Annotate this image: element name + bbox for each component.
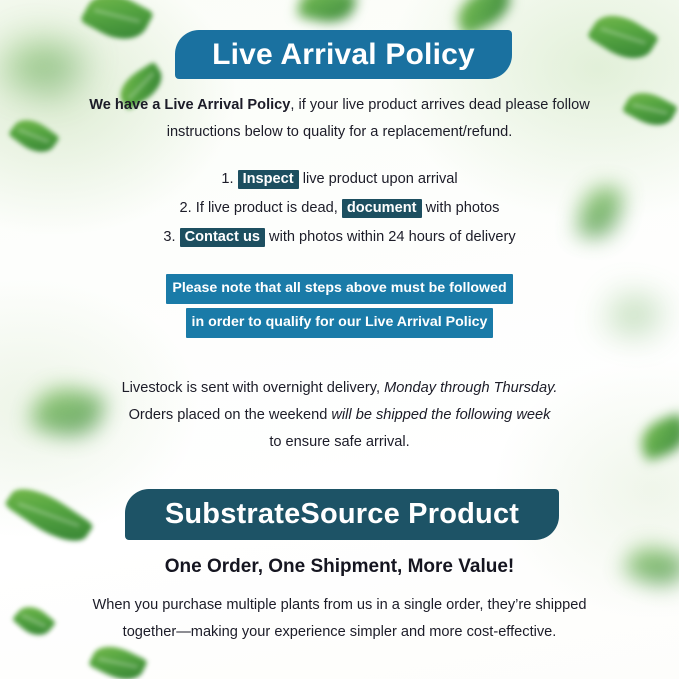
step-text: with photos [426, 200, 500, 216]
note-line-1: Please note that all steps above must be… [166, 274, 512, 304]
value-headline: One Order, One Shipment, More Value! [0, 556, 679, 578]
list-item: 2. If live product is dead, document wit… [0, 194, 679, 223]
policy-steps-list: 1. Inspect live product upon arrival 2. … [0, 165, 679, 252]
shipping-line-1-italic: Monday through Thursday. [384, 380, 557, 396]
shipping-line-2-italic: will be shipped the following week [331, 407, 550, 423]
step-highlight-contact-us: Contact us [180, 228, 265, 247]
intro-line-2: instructions below to quality for a repl… [0, 119, 679, 146]
leaf-top-right-b-icon [587, 4, 660, 69]
policy-infographic: Live Arrival Policy We have a Live Arriv… [0, 0, 679, 679]
intro-bold-lead: We have a Live Arrival Policy [89, 97, 290, 113]
step-highlight-document: document [342, 199, 422, 218]
step-highlight-inspect: Inspect [238, 170, 299, 189]
step-text: with photos within 24 hours of delivery [269, 229, 516, 245]
shipping-line-2: Orders placed on the weekend will be shi… [0, 402, 679, 429]
list-item: 3. Contact us with photos within 24 hour… [0, 223, 679, 252]
shipping-line-1-text: Livestock is sent with overnight deliver… [122, 380, 385, 396]
intro-paragraph: We have a Live Arrival Policy, if your l… [0, 92, 679, 146]
intro-line-1-rest: , if your live product arrives dead plea… [290, 97, 589, 113]
shipping-schedule-paragraph: Livestock is sent with overnight deliver… [0, 375, 679, 456]
live-arrival-policy-banner: Live Arrival Policy [175, 30, 512, 79]
value-line-2: together—making your experience simpler … [0, 619, 679, 646]
leaf-top-left-large-icon [80, 0, 154, 50]
shipping-line-3: to ensure safe arrival. [0, 429, 679, 456]
value-paragraph: When you purchase multiple plants from u… [0, 592, 679, 646]
shipping-line-2-text: Orders placed on the weekend [129, 407, 332, 423]
substratesource-product-banner: SubstrateSource Product [125, 489, 559, 540]
value-line-1: When you purchase multiple plants from u… [0, 592, 679, 619]
note-line-2: in order to qualify for our Live Arrival… [186, 308, 494, 338]
step-number: 2. [180, 200, 192, 216]
step-text: live product upon arrival [303, 171, 458, 187]
leaf-upper-left-blur-icon [2, 32, 83, 99]
intro-line-1: We have a Live Arrival Policy, if your l… [0, 92, 679, 119]
leaf-top-center-icon [297, 0, 357, 27]
note-row-2: in order to qualify for our Live Arrival… [0, 308, 679, 338]
shipping-line-1: Livestock is sent with overnight deliver… [0, 375, 679, 402]
list-item: 1. Inspect live product upon arrival [0, 165, 679, 194]
note-row-1: Please note that all steps above must be… [0, 274, 679, 304]
leaf-left-long-icon [4, 477, 94, 553]
step-pre-text: If live product is dead, [196, 200, 338, 216]
policy-note-banner: Please note that all steps above must be… [0, 274, 679, 342]
step-number: 3. [163, 229, 175, 245]
step-number: 1. [221, 171, 233, 187]
